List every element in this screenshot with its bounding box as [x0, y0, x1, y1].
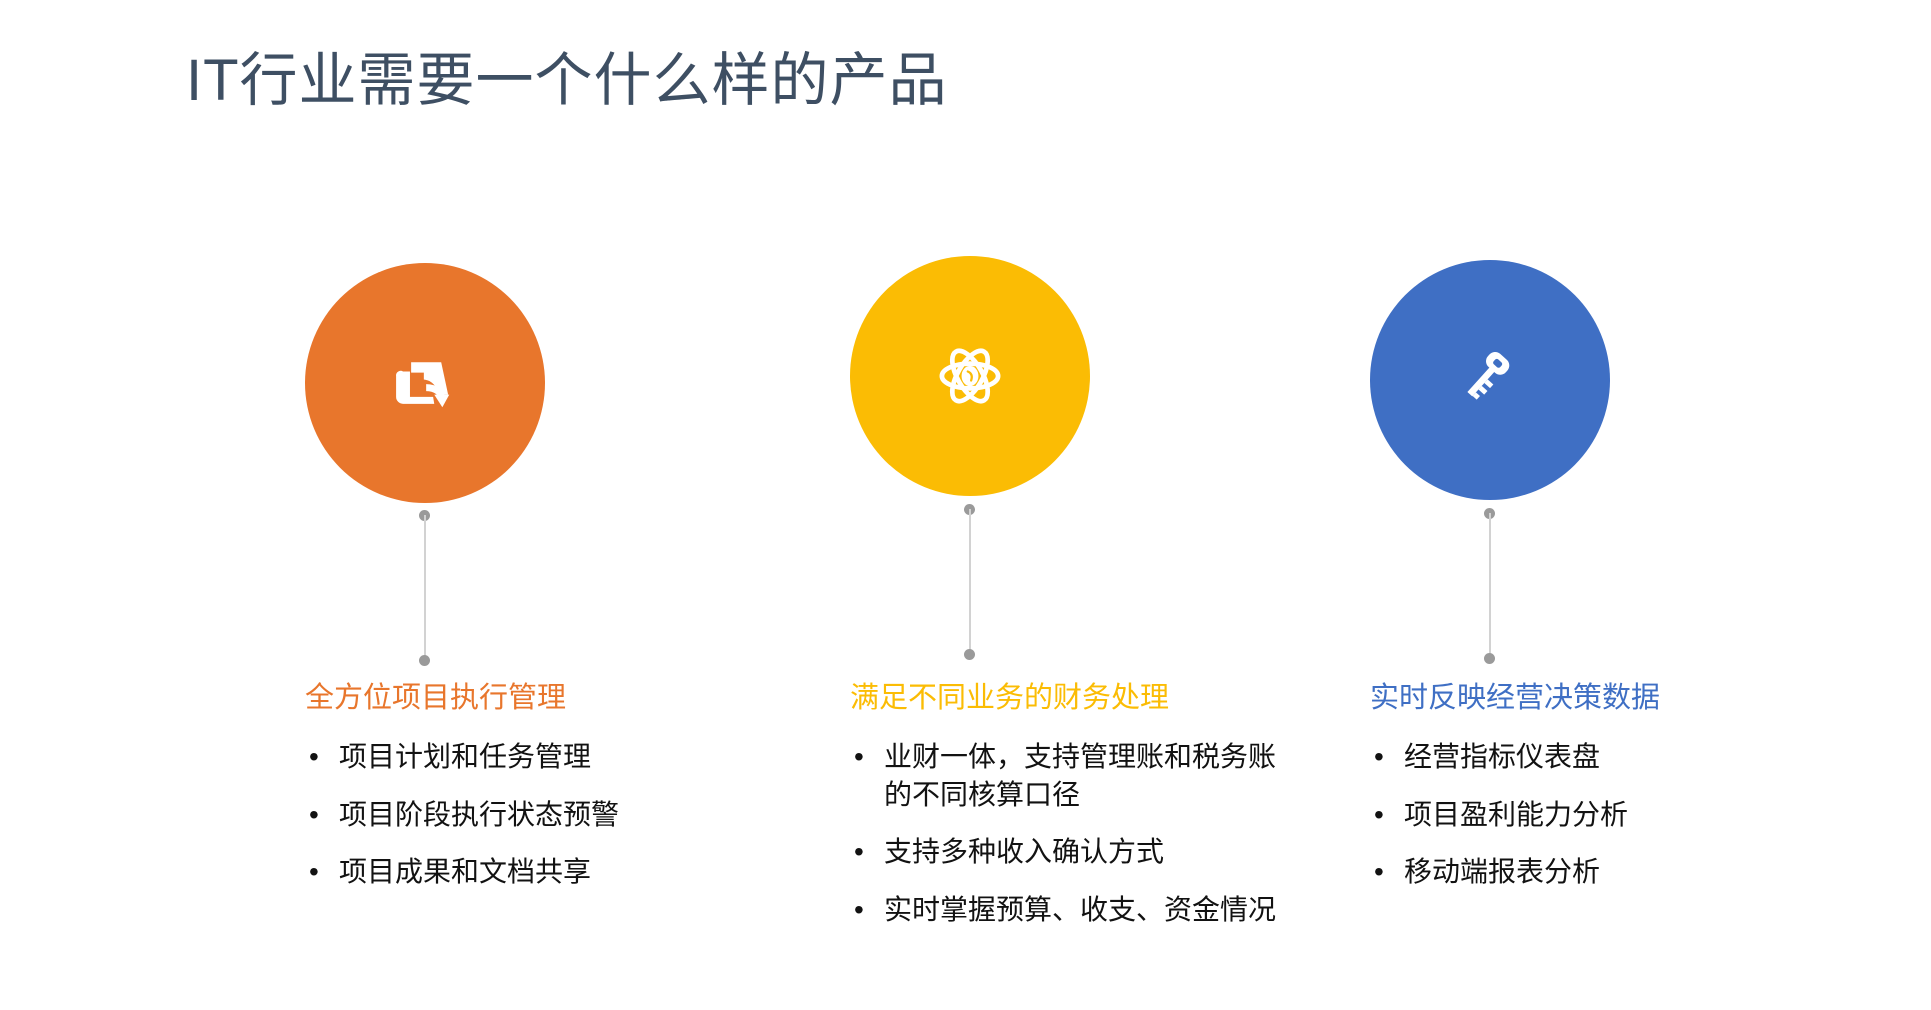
- key-icon: [1455, 345, 1525, 415]
- bullet-marker-icon: •: [854, 891, 864, 929]
- bullet-text: 项目阶段执行状态预警: [339, 796, 725, 834]
- feature-bullet-list-3: • 经营指标仪表盘 • 项目盈利能力分析 • 移动端报表分析: [1370, 738, 1790, 891]
- connector-dot-bottom-3: [1484, 653, 1495, 664]
- bullet-text: 实时掌握预算、收支、资金情况: [884, 891, 1320, 929]
- connector-line-3: [1484, 508, 1496, 664]
- slide-canvas: IT行业需要一个什么样的产品 全方位项目执行管理 •: [0, 0, 1931, 1010]
- connector-dot-bottom-1: [419, 655, 430, 666]
- bullet-text: 业财一体，支持管理账和税务账: [884, 738, 1320, 776]
- connector-line-1: [419, 510, 431, 666]
- feature-text-3: 实时反映经营决策数据 • 经营指标仪表盘 • 项目盈利能力分析 • 移动端报表分…: [1370, 680, 1790, 911]
- connector-stem-2: [969, 509, 971, 655]
- bullet-marker-icon: •: [1374, 853, 1384, 891]
- feature-icon-circle-2[interactable]: [850, 256, 1090, 496]
- feature-bullet-list-2: • 业财一体，支持管理账和税务账 的不同核算口径 • 支持多种收入确认方式 • …: [850, 738, 1320, 928]
- bullet-text-wrap: 的不同核算口径: [884, 776, 1320, 814]
- page-title: IT行业需要一个什么样的产品: [186, 48, 948, 115]
- atom-icon: [934, 340, 1006, 412]
- feature-icon-circle-1[interactable]: [305, 263, 545, 503]
- connector-line-2: [964, 504, 976, 660]
- list-item: • 支持多种收入确认方式: [850, 833, 1320, 871]
- feature-text-1: 全方位项目执行管理 • 项目计划和任务管理 • 项目阶段执行状态预警 • 项目成…: [305, 680, 725, 911]
- list-item: • 实时掌握预算、收支、资金情况: [850, 891, 1320, 929]
- bullet-text: 项目盈利能力分析: [1404, 796, 1790, 834]
- list-item: • 项目成果和文档共享: [305, 853, 725, 891]
- list-item: • 项目阶段执行状态预警: [305, 796, 725, 834]
- bullet-marker-icon: •: [1374, 738, 1384, 776]
- connector-stem-3: [1489, 513, 1491, 659]
- bullet-text: 移动端报表分析: [1404, 853, 1790, 891]
- bullet-text: 项目计划和任务管理: [339, 738, 725, 776]
- bullet-text: 项目成果和文档共享: [339, 853, 725, 891]
- list-item: • 移动端报表分析: [1370, 853, 1790, 891]
- bullet-marker-icon: •: [309, 853, 319, 891]
- feature-icon-circle-3[interactable]: [1370, 260, 1610, 500]
- connector-stem-1: [424, 515, 426, 661]
- feature-heading-1: 全方位项目执行管理: [305, 680, 725, 716]
- bullet-marker-icon: •: [854, 833, 864, 871]
- feature-text-2: 满足不同业务的财务处理 • 业财一体，支持管理账和税务账 的不同核算口径 • 支…: [850, 680, 1320, 948]
- bullet-marker-icon: •: [309, 796, 319, 834]
- document-arrow-icon: [388, 346, 462, 420]
- connector-dot-bottom-2: [964, 649, 975, 660]
- bullet-text: 支持多种收入确认方式: [884, 833, 1320, 871]
- bullet-text: 经营指标仪表盘: [1404, 738, 1790, 776]
- list-item: • 业财一体，支持管理账和税务账 的不同核算口径: [850, 738, 1320, 813]
- feature-bullet-list-1: • 项目计划和任务管理 • 项目阶段执行状态预警 • 项目成果和文档共享: [305, 738, 725, 891]
- feature-heading-3: 实时反映经营决策数据: [1370, 680, 1790, 716]
- list-item: • 项目计划和任务管理: [305, 738, 725, 776]
- bullet-marker-icon: •: [854, 738, 864, 776]
- bullet-marker-icon: •: [1374, 796, 1384, 834]
- feature-heading-2: 满足不同业务的财务处理: [850, 680, 1320, 716]
- list-item: • 项目盈利能力分析: [1370, 796, 1790, 834]
- bullet-marker-icon: •: [309, 738, 319, 776]
- list-item: • 经营指标仪表盘: [1370, 738, 1790, 776]
